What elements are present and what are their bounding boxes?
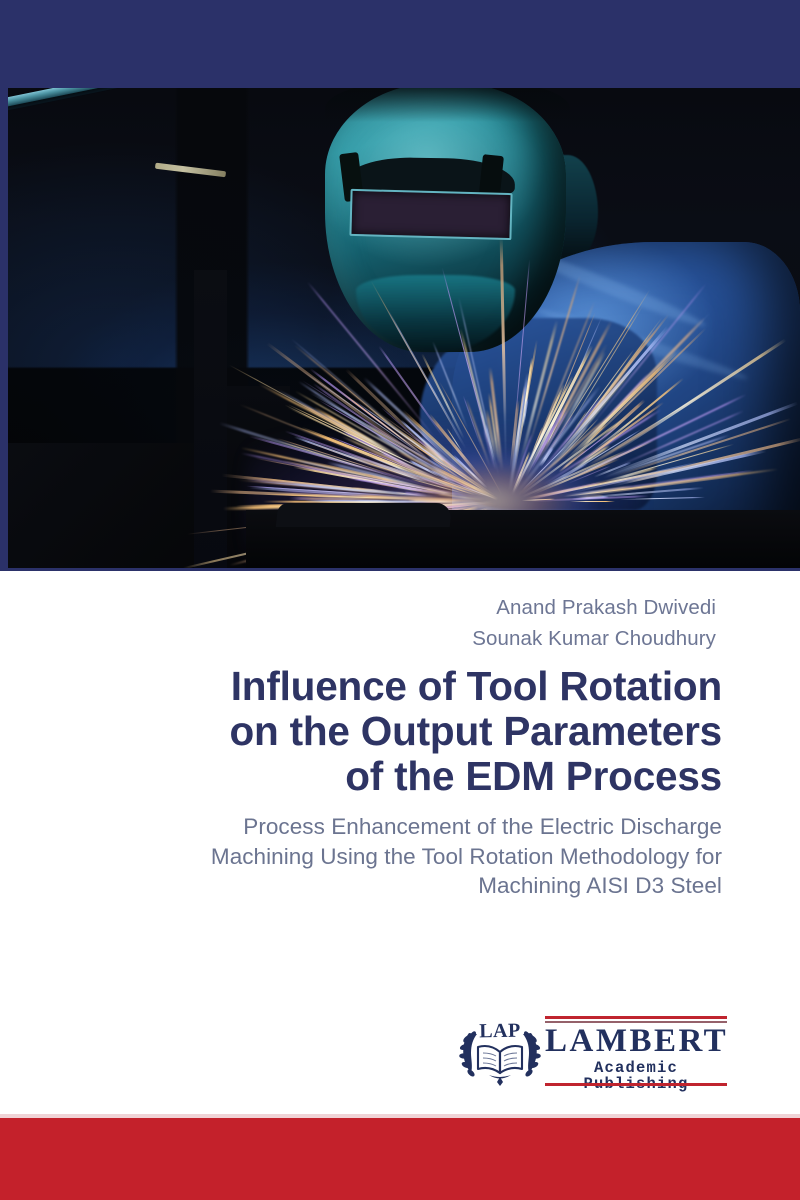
author-list: Anand Prakash Dwivedi Sounak Kumar Choud…	[472, 592, 716, 654]
publisher-wordmark: LAMBERT Academic Publishing	[545, 1013, 727, 1087]
book-cover: Anand Prakash Dwivedi Sounak Kumar Choud…	[0, 0, 800, 1200]
logo-bar-bottom	[545, 1083, 727, 1086]
author-name-2: Sounak Kumar Choudhury	[472, 623, 716, 654]
top-navy-band	[0, 0, 800, 88]
cover-photo-welder	[8, 88, 800, 568]
publisher-logo: LAP LAMBERT Academic Publishing	[459, 1011, 727, 1089]
subtitle-line-3: Machining AISI D3 Steel	[60, 871, 722, 901]
work-table-lip	[276, 503, 453, 527]
title-line-1: Influence of Tool Rotation	[60, 664, 722, 709]
subtitle-line-1: Process Enhancement of the Electric Disc…	[60, 812, 722, 842]
laurel-wreath-book-icon: LAP	[459, 1015, 541, 1087]
bottom-red-band	[0, 1118, 800, 1200]
lap-monogram: LAP	[473, 1020, 527, 1044]
publisher-tagline: Academic Publishing	[545, 1060, 727, 1092]
title-line-3: of the EDM Process	[60, 754, 722, 799]
cover-text-area: Anand Prakash Dwivedi Sounak Kumar Choud…	[0, 571, 800, 1118]
title-line-2: on the Output Parameters	[60, 709, 722, 754]
author-name-1: Anand Prakash Dwivedi	[472, 592, 716, 623]
book-title: Influence of Tool Rotation on the Output…	[60, 664, 722, 799]
subtitle-line-2: Machining Using the Tool Rotation Method…	[60, 842, 722, 872]
publisher-name: LAMBERT	[545, 1025, 727, 1058]
cover-photo-frame	[0, 85, 800, 571]
logo-bar-top	[545, 1016, 727, 1019]
book-subtitle: Process Enhancement of the Electric Disc…	[60, 812, 722, 901]
spark-streak	[499, 237, 506, 421]
